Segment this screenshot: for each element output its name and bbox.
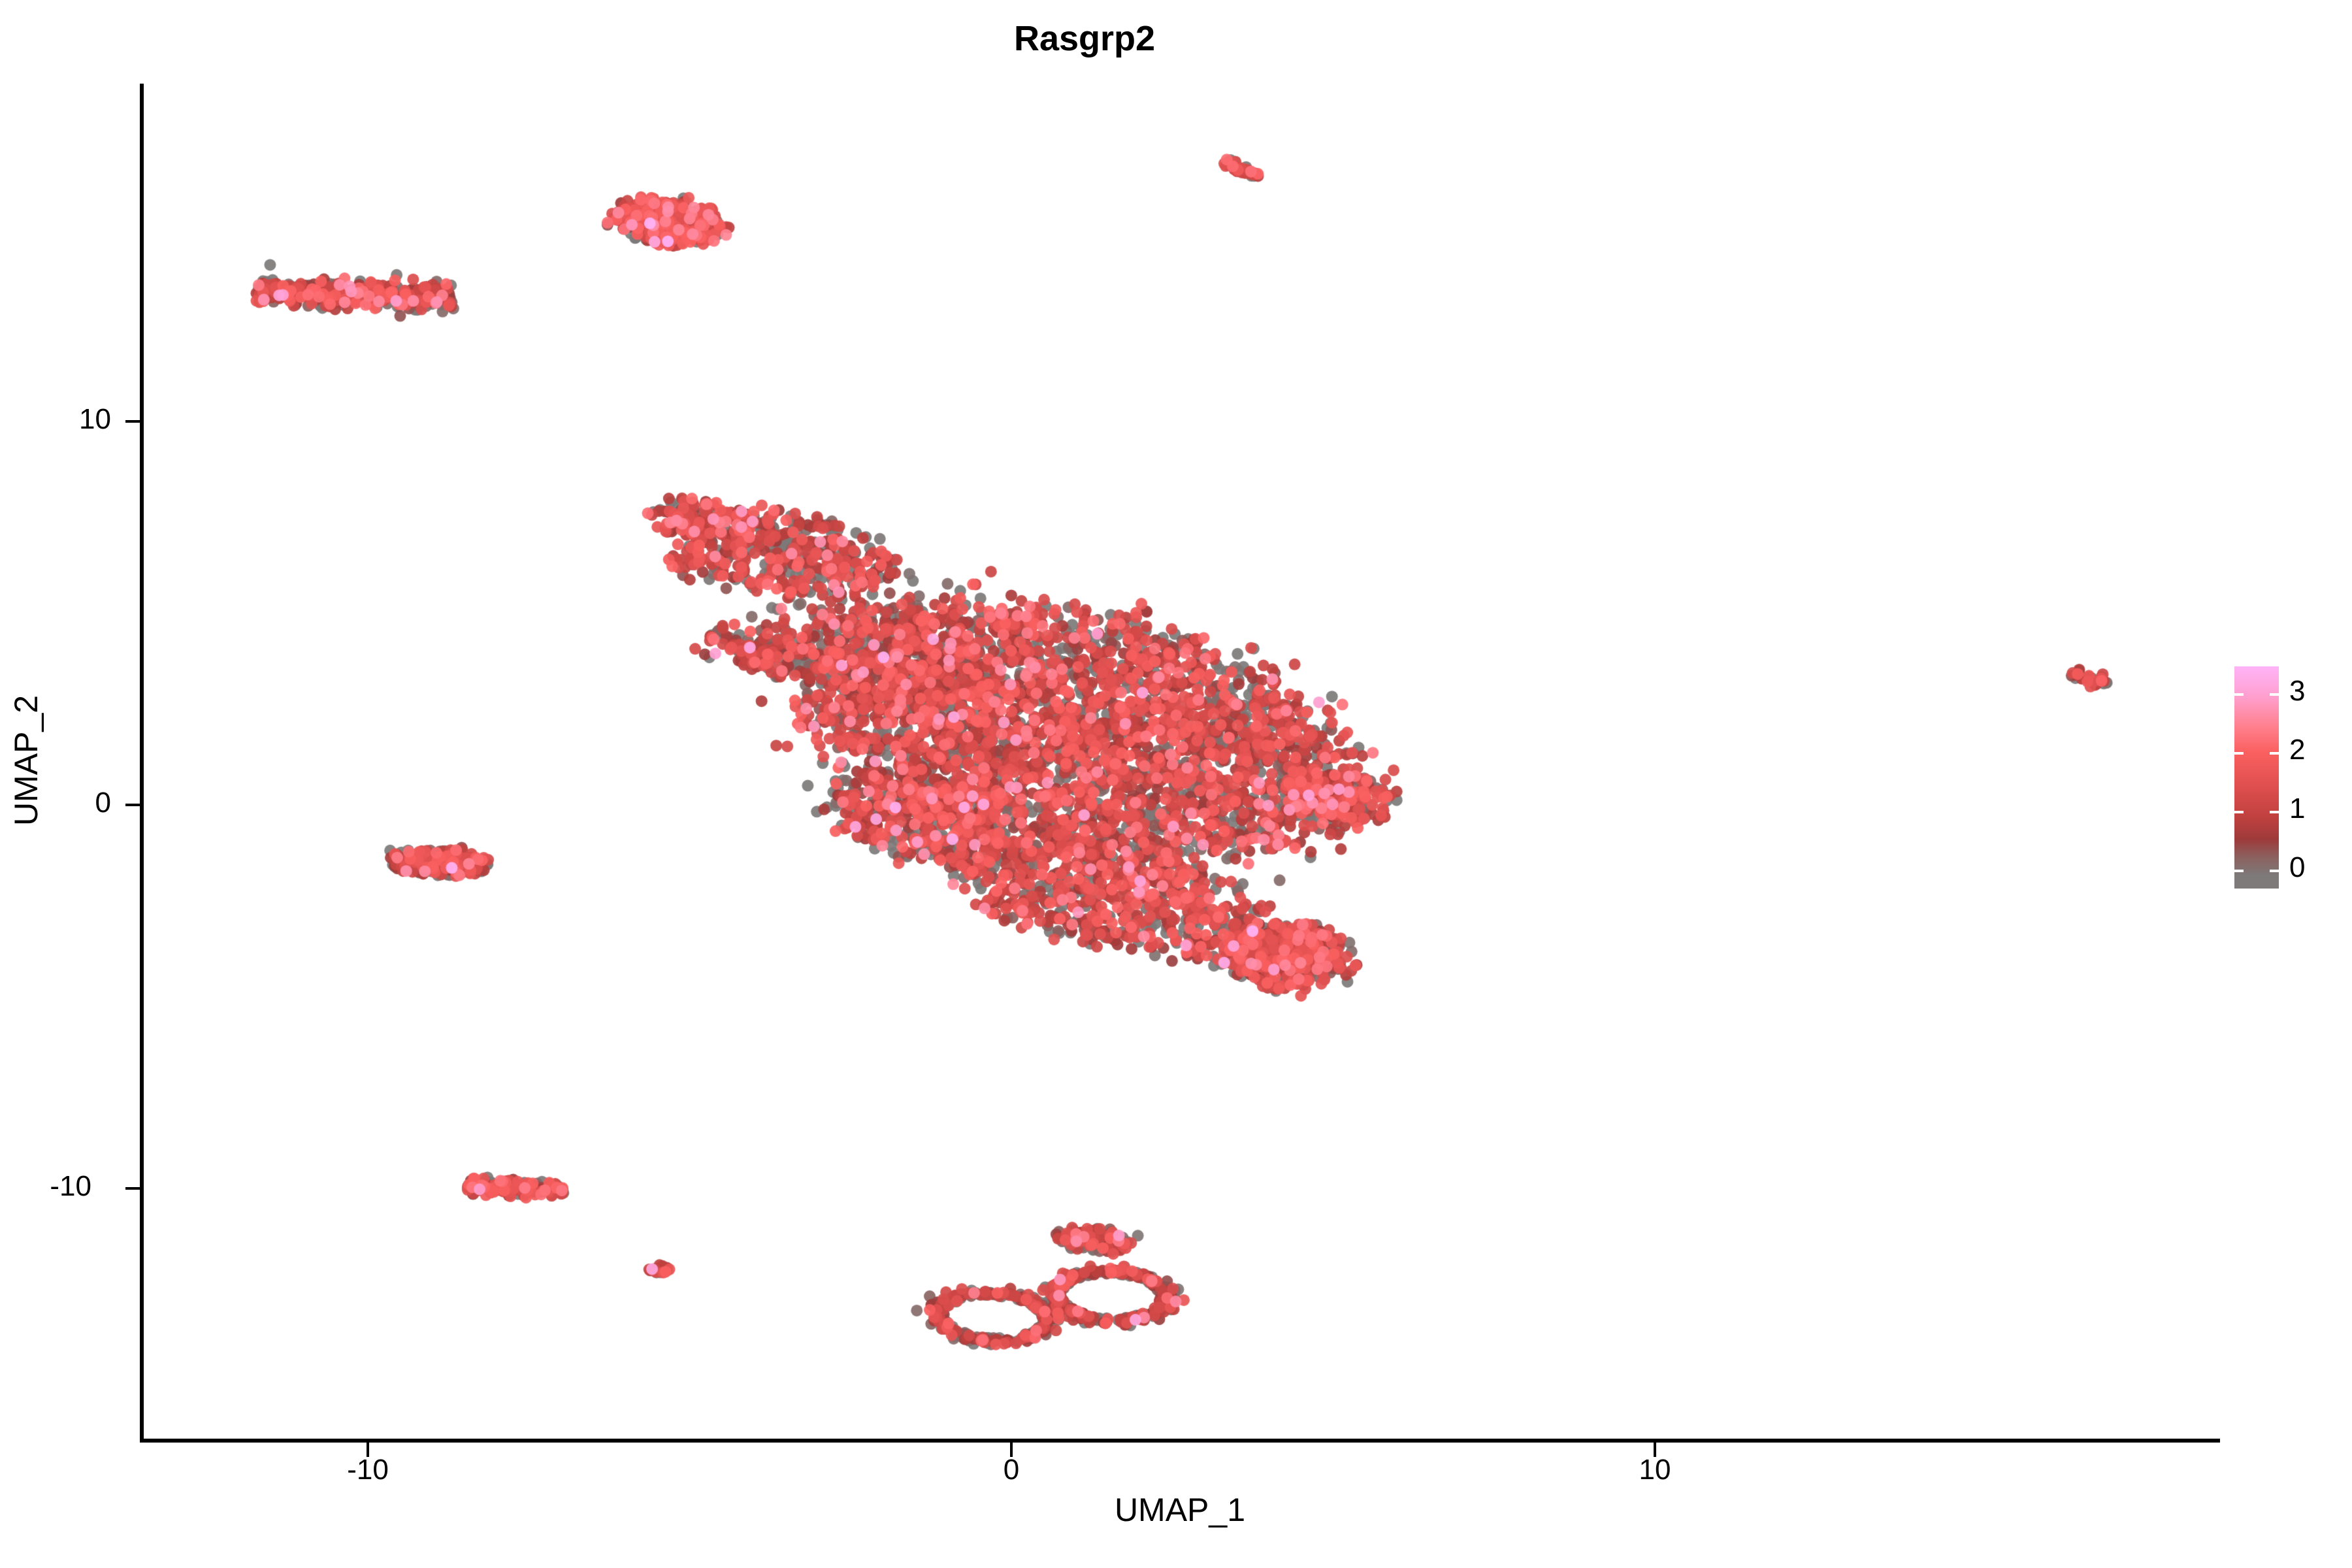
plot-panel [142,84,2220,1441]
x-tick-label-10: 10 [1590,1454,1720,1486]
colorbar-tick-0-left [2234,870,2244,872]
colorbar-tick-3-left [2234,693,2244,696]
colorbar-label-0: 0 [2289,853,2305,882]
x-axis-title: UMAP_1 [140,1491,2220,1529]
x-tick-label-neg10: -10 [302,1454,433,1486]
colorbar-tick-1-left [2234,811,2244,813]
y-tick-label-neg10: -10 [13,1170,91,1203]
feature-plot-root: Rasgrp2 10 0 -10 -10 0 10 UMAP_1 UMAP_2 … [0,0,2352,1568]
y-axis-title: UMAP_2 [7,434,45,1087]
y-tick-mark-neg10 [125,1187,140,1190]
scatter-canvas [142,84,2220,1441]
x-axis-line [140,1439,2220,1443]
colorbar-tick-2-left [2234,752,2244,755]
colorbar-label-2: 2 [2289,736,2305,764]
x-tick-label-0: 0 [946,1454,1077,1486]
y-tick-mark-0 [125,804,140,806]
colorbar-legend: 3 2 1 0 [2234,666,2339,902]
colorbar-tick-0-right [2270,870,2279,872]
colorbar-tick-2-right [2270,752,2279,755]
colorbar-gradient [2234,666,2279,889]
colorbar-label-1: 1 [2289,794,2305,823]
y-tick-mark-10 [125,420,140,423]
colorbar-tick-1-right [2270,811,2279,813]
colorbar-tick-3-right [2270,693,2279,696]
y-axis-line [140,84,144,1443]
colorbar-label-3: 3 [2289,677,2305,706]
page-title: Rasgrp2 [0,18,2169,59]
y-tick-label-10: 10 [33,403,111,436]
